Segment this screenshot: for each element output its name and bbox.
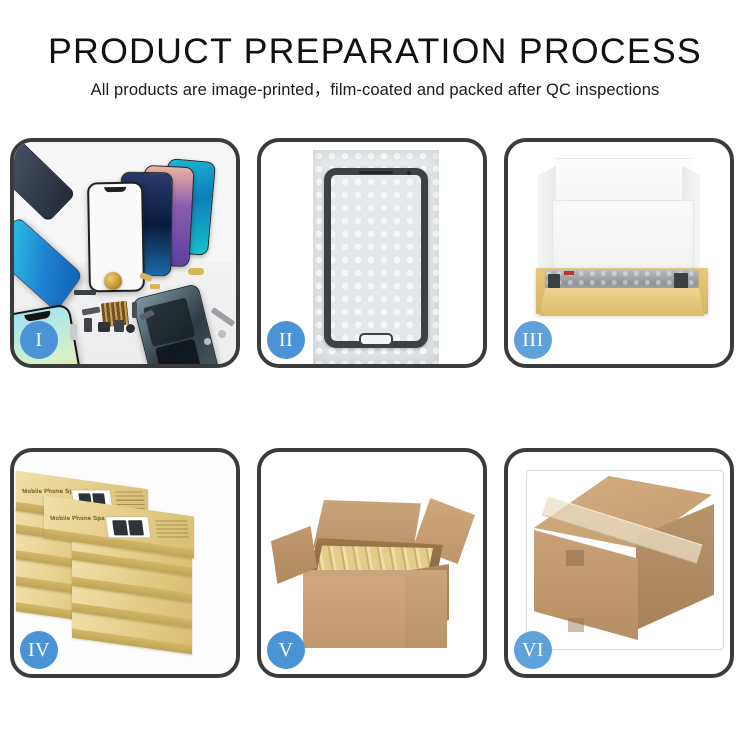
page-subtitle: All products are image-printed，film-coat… [0,82,750,99]
process-step-6: VI [504,448,734,678]
box-label-product-image [105,516,152,538]
product-preparation-page: PRODUCT PREPARATION PROCESS All products… [0,0,750,750]
page-title: PRODUCT PREPARATION PROCESS [0,34,750,69]
phone-tilted-dark [14,142,76,222]
step-badge-1: I [20,321,58,359]
carton-seam-tab-lower [568,618,584,632]
step-badge-2: II [267,321,305,359]
product-connector-left [548,274,560,288]
spare-part [204,338,211,345]
process-step-grid: I II [10,138,740,678]
step-badge-3: III [514,321,552,359]
process-step-4: Mobile Phone Spare Parts [10,448,240,678]
box-label-checklist [155,518,189,537]
spare-part [70,324,77,340]
vibration-motor-part [104,272,122,290]
spare-part [132,302,137,318]
spare-part [114,320,124,332]
spare-part [74,290,96,295]
spare-part [126,324,135,333]
home-button-icon [359,333,393,346]
spare-part [98,322,110,332]
front-camera-icon [407,171,411,175]
spare-part [218,330,226,338]
spare-part [150,284,160,289]
process-step-3: III [504,138,734,368]
spare-part [84,318,92,332]
page-header: PRODUCT PREPARATION PROCESS All products… [0,0,750,99]
process-step-2: II [257,138,487,368]
carton-front-panel [303,576,405,648]
carton-front-panel [534,530,638,640]
phone-notch-icon [104,187,126,192]
phone-front-glass [324,168,428,348]
product-marking [564,271,574,275]
bubble-wrap-film [313,150,439,364]
process-step-5: V [257,448,487,678]
kraft-box-front-wall [540,288,704,316]
step-badge-5: V [267,631,305,669]
earpiece-icon [359,171,393,174]
carton-seam-tab-upper [566,550,584,566]
spare-part [188,268,204,275]
step-badge-6: VI [514,631,552,669]
process-step-1: I [10,138,240,368]
product-connector-right [674,273,688,289]
step-badge-4: IV [20,631,58,669]
